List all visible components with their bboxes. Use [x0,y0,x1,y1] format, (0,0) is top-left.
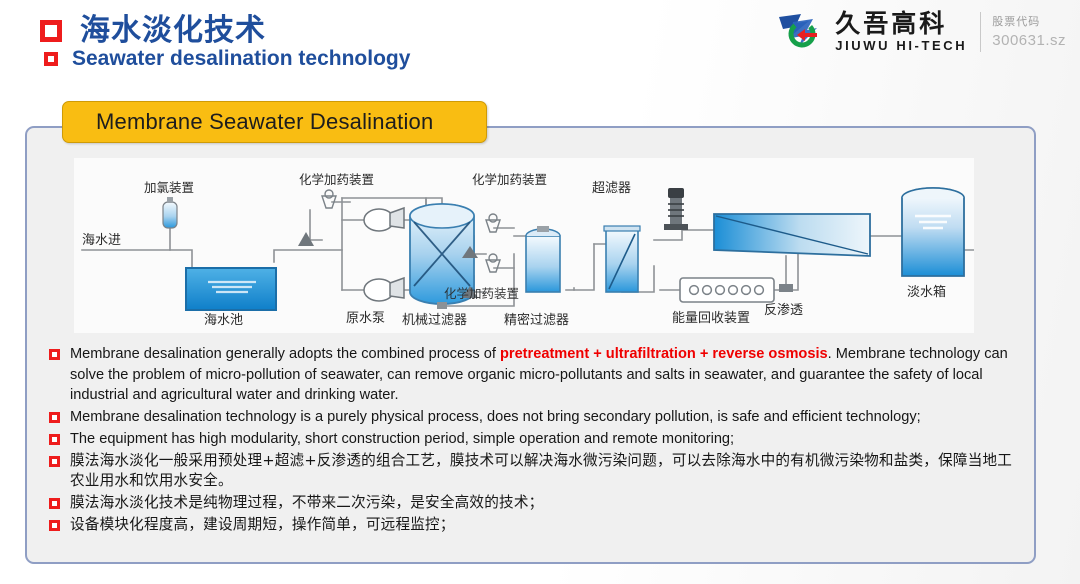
list-item: Membrane desalination technology is a pu… [49,407,1024,428]
process-flow-diagram: 加氯装置 海水进 海水池 [74,158,974,333]
square-bullet-icon [49,456,60,467]
stock-code: 300631.sz [992,31,1066,51]
list-item: Membrane desalination generally adopts t… [49,344,1024,406]
label-mechanical-filter: 机械过滤器 [402,313,467,328]
logo-name-cn: 久吾高科 [835,11,967,37]
list-item: 膜法海水淡化技术是纯物理过程，不带来二次污染，是安全高效的技术； [49,493,1024,514]
label-chlorination: 加氯装置 [144,180,194,195]
square-bullet-icon [49,434,60,445]
bullet-list: Membrane desalination generally adopts t… [49,344,1024,536]
label-chemical-dosing-2a: 化学加药装置 [472,172,547,187]
precision-filter-icon [526,226,560,292]
logo-wordmark: 久吾高科 JIUWU HI-TECH [835,11,967,54]
fresh-water-tank-icon [902,188,964,276]
content-panel: 加氯装置 海水进 海水池 [25,126,1036,564]
title-row-en: Seawater desalination technology [40,48,410,69]
label-energy-recovery: 能量回收装置 [672,311,750,326]
bullet-text-2: Membrane desalination technology is a pu… [70,407,921,428]
square-bullet-icon [49,498,60,509]
section-banner-label: Membrane Seawater Desalination [63,109,433,135]
ultrafilter-icon [604,226,640,292]
label-ultrafilter: 超滤器 [592,181,631,196]
page-title-cn: 海水淡化技术 [80,16,266,46]
square-bullet-icon [49,349,60,360]
square-bullet-icon [49,412,60,423]
list-item: The equipment has high modularity, short… [49,429,1024,450]
slide-header: 海水淡化技术 Seawater desalination technology … [0,0,1080,92]
bullet-text-4: 膜法海水淡化一般采用预处理+超滤+反渗透的组合工艺，膜技术可以解决海水微污染问题… [70,451,1024,492]
bullet-text-5: 膜法海水淡化技术是纯物理过程，不带来二次污染，是安全高效的技术； [70,493,543,514]
title-row-cn: 海水淡化技术 [40,16,410,46]
bullet-text-3: The equipment has high modularity, short… [70,429,734,450]
square-bullet-icon [44,52,58,66]
section-banner: Membrane Seawater Desalination [62,101,487,143]
square-bullet-icon [40,20,62,42]
label-raw-water-pump: 原水泵 [346,311,385,326]
jiuwu-logo-icon [777,10,827,54]
stock-info: 股票代码 300631.sz [992,14,1066,50]
company-logo: 久吾高科 JIUWU HI-TECH 股票代码 300631.sz [777,6,1066,58]
label-reverse-osmosis: 反渗透 [764,303,803,318]
list-item: 膜法海水淡化一般采用预处理+超滤+反渗透的组合工艺，膜技术可以解决海水微污染问题… [49,451,1024,492]
seawater-pool-icon [186,268,276,310]
label-precision-filter: 精密过滤器 [504,312,569,328]
label-chemical-dosing-1: 化学加药装置 [299,172,374,187]
bullet-text-1: Membrane desalination generally adopts t… [70,344,1024,406]
process-flow-svg: 加氯装置 海水进 海水池 [74,158,974,333]
title-block: 海水淡化技术 Seawater desalination technology [40,16,410,69]
stock-label: 股票代码 [992,14,1066,31]
list-item: 设备模块化程度高，建设周期短，操作简单，可远程监控； [49,515,1024,536]
logo-divider [980,12,981,52]
logo-name-en: JIUWU HI-TECH [835,38,967,54]
label-chemical-dosing-2b: 化学加药装置 [444,286,519,301]
slide-root: 海水淡化技术 Seawater desalination technology … [0,0,1080,584]
energy-recovery-icon [680,278,774,302]
square-bullet-icon [49,520,60,531]
label-seawater-pool: 海水池 [204,313,243,328]
bullet-text-6: 设备模块化程度高，建设周期短，操作简单，可远程监控； [70,515,455,536]
label-fresh-water-tank: 淡水箱 [907,284,946,300]
page-title-en: Seawater desalination technology [72,48,410,69]
label-seawater-inlet: 海水进 [82,233,121,248]
